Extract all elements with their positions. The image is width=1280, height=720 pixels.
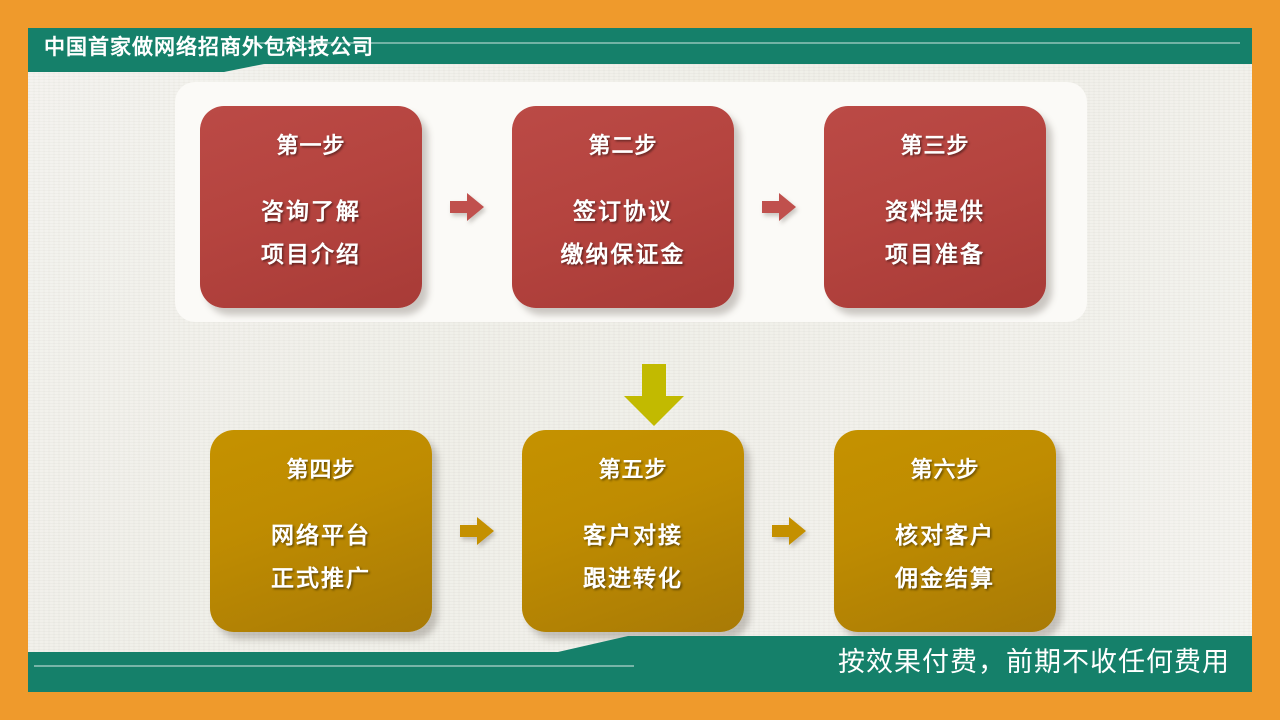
flow-connector-3 [432,515,522,547]
step-card-3-line-2: 项目准备 [885,233,985,276]
flow-connector-2 [734,191,824,223]
step-card-5-title: 第五步 [598,452,667,484]
step-card-6-line-1: 核对客户 [895,514,995,557]
slide-stage: 中国首家做网络招商外包科技公司 第一步 咨询了解 项目介绍 第二步 签订协议 [28,28,1252,692]
step-card-4-line-1: 网络平台 [271,514,371,557]
step-card-6[interactable]: 第六步 核对客户 佣金结算 [834,430,1056,632]
step-card-3-lines: 资料提供 项目准备 [885,190,985,276]
step-card-4-lines: 网络平台 正式推广 [271,514,371,600]
step-card-4-title: 第四步 [286,452,355,484]
slide-canvas: 中国首家做网络招商外包科技公司 第一步 咨询了解 项目介绍 第二步 签订协议 [0,0,1280,720]
step-card-1[interactable]: 第一步 咨询了解 项目介绍 [200,106,422,308]
arrow-right-icon [772,515,806,547]
step-card-3-line-1: 资料提供 [885,190,985,233]
step-card-1-title: 第一步 [276,128,345,160]
arrow-right-icon [460,515,494,547]
flow-row-bottom: 第四步 网络平台 正式推广 第五步 客户对接 跟进转化 [210,430,1056,632]
step-card-2-title: 第二步 [588,128,657,160]
header-hairline-divider [250,42,1240,44]
step-card-3-title: 第三步 [900,128,969,160]
step-card-2-line-2: 缴纳保证金 [561,233,686,276]
step-card-1-line-1: 咨询了解 [261,190,361,233]
step-card-2-line-1: 签订协议 [561,190,686,233]
step-card-6-title: 第六步 [910,452,979,484]
arrow-right-icon [762,191,796,223]
flow-connector-1 [422,191,512,223]
step-card-2[interactable]: 第二步 签订协议 缴纳保证金 [512,106,734,308]
step-card-3[interactable]: 第三步 资料提供 项目准备 [824,106,1046,308]
step-card-5-line-2: 跟进转化 [583,557,683,600]
step-card-6-line-2: 佣金结算 [895,557,995,600]
arrow-down-icon [622,364,686,428]
step-card-5[interactable]: 第五步 客户对接 跟进转化 [522,430,744,632]
footer-hairline-divider [34,665,634,667]
page-title: 中国首家做网络招商外包科技公司 [44,33,374,63]
step-card-1-line-2: 项目介绍 [261,233,361,276]
step-card-4-line-2: 正式推广 [271,557,371,600]
flow-connector-4 [744,515,834,547]
step-card-4[interactable]: 第四步 网络平台 正式推广 [210,430,432,632]
footer-tagline: 按效果付费，前期不收任何费用 [838,644,1230,680]
arrow-right-icon [450,191,484,223]
step-card-5-line-1: 客户对接 [583,514,683,557]
flow-row-top: 第一步 咨询了解 项目介绍 第二步 签订协议 缴纳保证金 [200,106,1046,308]
step-card-2-lines: 签订协议 缴纳保证金 [561,190,686,276]
step-card-6-lines: 核对客户 佣金结算 [895,514,995,600]
step-card-5-lines: 客户对接 跟进转化 [583,514,683,600]
step-card-1-lines: 咨询了解 项目介绍 [261,190,361,276]
